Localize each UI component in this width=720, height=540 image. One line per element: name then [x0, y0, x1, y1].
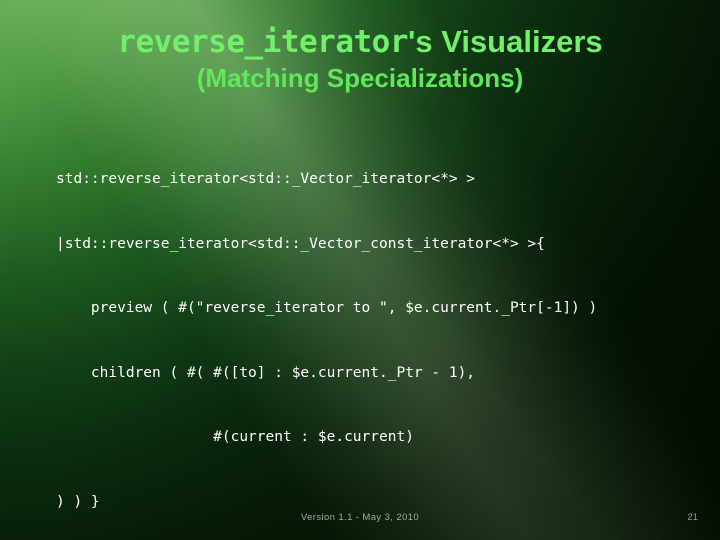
footer-version-text: Version 1.1 - May 3, 2010	[0, 512, 720, 523]
code-line: preview ( #("reverse_iterator to ", $e.c…	[56, 298, 716, 320]
page-title-proportional-part: 's Visualizers	[408, 24, 603, 59]
presentation-slide: reverse_iterator's Visualizers (Matching…	[0, 0, 720, 540]
footer-page-number: 21	[687, 512, 698, 523]
code-listing: std::reverse_iterator<std::_Vector_itera…	[56, 126, 716, 540]
page-title: reverse_iterator's Visualizers	[0, 26, 720, 58]
code-line: children ( #( #([to] : $e.current._Ptr -…	[56, 363, 716, 385]
code-line: std::reverse_iterator<std::_Vector_itera…	[56, 169, 716, 191]
code-line: ) ) }	[56, 492, 716, 514]
slide-title-block: reverse_iterator's Visualizers (Matching…	[0, 26, 720, 91]
code-line: |std::reverse_iterator<std::_Vector_cons…	[56, 234, 716, 256]
page-subtitle: (Matching Specializations)	[0, 65, 720, 91]
page-title-monospace-part: reverse_iterator	[117, 24, 408, 60]
code-line: #(current : $e.current)	[56, 427, 716, 449]
